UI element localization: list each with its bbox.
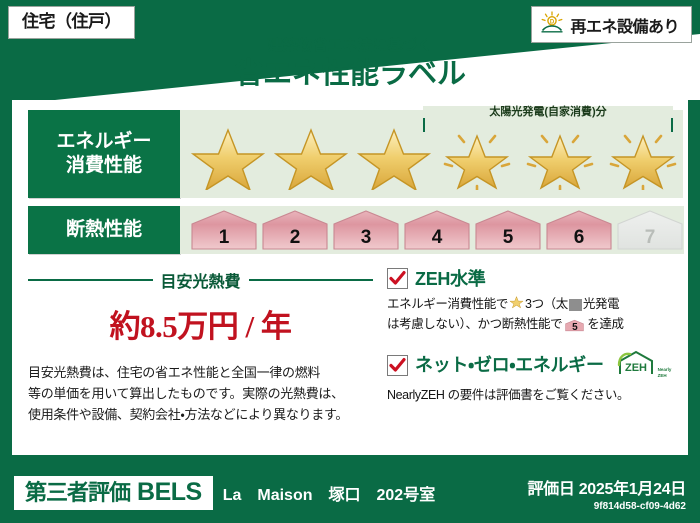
zeh-standard-title: ZEH水準 [415, 270, 486, 288]
zeh-standard-header: ZEH水準 [387, 268, 672, 289]
insulation-level-3: 3 [332, 209, 400, 251]
bels-badge-ja: 第三者評価 [25, 482, 130, 504]
insulation-level-scale: 1 2 3 [180, 209, 684, 251]
zeh-desc-line-2: は考慮しない）、かつ断熱性能で 5 を達成 [387, 315, 672, 334]
insulation-level-2: 2 [261, 209, 329, 251]
zeh-desc-line2-b: を達成 [587, 315, 623, 334]
net-zero-energy-block: ネット・ゼロ・エネルギー ZEH Nearly [387, 350, 672, 405]
star-4-solar [437, 118, 517, 190]
utility-cost-block: 目安光熱費 約8.5万円 / 年 目安光熱費は、住宅の省エネ性能と全国一律の燃料… [28, 266, 373, 446]
net-zero-note: NearlyZEH の要件は評価書をご覧ください。 [387, 386, 672, 405]
net-zero-title: ネット・ゼロ・エネルギー [415, 356, 604, 374]
cost-rule-left [28, 279, 153, 281]
zeh-standard-description: エネルギー消費性能で 3つ（太 光発電 は考慮しない）、かつ断熱性能 [387, 294, 672, 335]
energy-performance-row: エネルギー 消費性能 太陽光発電(自家消費)分 [28, 110, 672, 198]
footer-bar: 第三者評価 BELS La Maison 塚口 202号室 評価日 2025年1… [0, 463, 700, 523]
building-name: La Maison 塚口 202号室 [223, 481, 436, 505]
footer-meta: 評価日 2025年1月24日 9f814d58-cf09-4d62 [527, 475, 686, 512]
star-1 [188, 118, 268, 190]
zeh-desc-line1-b: 3つ（太 [525, 295, 568, 314]
zeh-desc-line1-c: 光発電 [583, 295, 619, 314]
insulation-level-2-number: 2 [261, 228, 329, 247]
cost-note-line-3: 使用条件や設備、契約会社・方法などにより異なります。 [28, 404, 373, 425]
insulation-label: 断熱性能 [66, 218, 142, 242]
insulation-performance-row: 断熱性能 [28, 206, 672, 254]
zeh-desc-line-1: エネルギー消費性能で 3つ（太 光発電 [387, 294, 672, 315]
insulation-level-4-number: 4 [403, 228, 471, 247]
utility-cost-note: 目安光熱費は、住宅の省エネ性能と全国一律の燃料 等の単価を用いて算出したものです… [28, 362, 373, 425]
utility-cost-heading: 目安光熱費 [28, 268, 373, 292]
insulation-level-5-number: 5 [474, 228, 542, 247]
utility-cost-value: 約8.5万円 / 年 [28, 301, 373, 346]
title-block: 建築物省エネ法に基づく 省エネ性能ラベル [0, 38, 700, 91]
zeh-logo-sub-line2: ZEH [658, 373, 667, 378]
badge-dwelling-type: 住宅（住戸） [8, 6, 135, 39]
insulation-level-3-number: 3 [332, 228, 400, 247]
net-zero-description: NearlyZEH の要件は評価書をご覧ください。 [387, 386, 672, 405]
title-subtitle: 建築物省エネ法に基づく [0, 38, 700, 55]
solar-bracket-label: 太陽光発電(自家消費)分 [423, 106, 673, 118]
insulation-level-6-number: 6 [545, 228, 613, 247]
net-zero-header: ネット・ゼロ・エネルギー ZEH Nearly [387, 350, 672, 381]
insulation-scale-panel: 1 2 3 [180, 206, 684, 254]
insulation-performance-label-box: 断熱性能 [28, 206, 180, 254]
inline-star-icon [509, 294, 524, 315]
insulation-level-6: 6 [545, 209, 613, 251]
star-3 [354, 118, 434, 190]
star-5-solar [520, 118, 600, 190]
redacted-character [569, 299, 582, 311]
zeh-house-icon: ZEH [616, 350, 656, 381]
insulation-level-1-number: 1 [190, 228, 258, 247]
evaluation-id: 9f814d58-cf09-4d62 [527, 501, 686, 512]
star-2 [271, 118, 351, 190]
cost-rule-right [249, 279, 374, 281]
utility-cost-heading-label: 目安光熱費 [161, 268, 241, 292]
svg-text:ZEH: ZEH [625, 362, 647, 374]
label-card: エネルギー 消費性能 太陽光発電(自家消費)分 [12, 100, 688, 455]
check-icon [388, 269, 407, 288]
energy-performance-label-box: エネルギー 消費性能 [28, 110, 180, 198]
badge-renewable-label: 再エネ設備あり [570, 13, 679, 37]
zeh-standard-block: ZEH水準 エネルギー消費性能で 3つ（太 光発電 [387, 268, 672, 335]
net-zero-checkbox[interactable] [387, 355, 408, 376]
energy-label-line1: エネルギー [56, 131, 151, 152]
insulation-level-7-number: 7 [616, 228, 684, 247]
inline-insulation-badge: 5 [565, 318, 584, 333]
zeh-desc-line2-a: は考慮しない）、かつ断熱性能で [387, 315, 562, 334]
cost-note-line-1: 目安光熱費は、住宅の省エネ性能と全国一律の燃料 [28, 362, 373, 383]
insulation-level-1: 1 [190, 209, 258, 251]
page-title: 省エネ性能ラベル [0, 57, 700, 92]
energy-label-line2: 消費性能 [66, 155, 142, 176]
zeh-checkbox[interactable] [387, 268, 408, 289]
star-6-solar [603, 118, 683, 190]
lower-section: 目安光熱費 約8.5万円 / 年 目安光熱費は、住宅の省エネ性能と全国一律の燃料… [28, 266, 672, 446]
svg-text:D: D [550, 19, 555, 25]
bels-badge-en: BELS [137, 480, 202, 505]
insulation-level-7: 7 [616, 209, 684, 251]
zeh-desc-line1-a: エネルギー消費性能で [387, 295, 508, 314]
star-rating [180, 118, 683, 190]
badge-dwelling-label: 住宅（住戸） [22, 12, 121, 31]
inline-insulation-badge-number: 5 [565, 323, 584, 333]
energy-stars-panel: 太陽光発電(自家消費)分 [180, 110, 683, 198]
zeh-logo-subtext: Nearly ZEH [658, 367, 672, 380]
bels-badge: 第三者評価 BELS [14, 476, 213, 510]
insulation-level-5: 5 [474, 209, 542, 251]
solar-sun-icon: D [540, 11, 564, 38]
evaluation-date: 評価日 2025年1月24日 [527, 475, 686, 499]
criteria-block: ZEH水準 エネルギー消費性能で 3つ（太 光発電 [373, 266, 672, 446]
insulation-level-4: 4 [403, 209, 471, 251]
check-icon [388, 356, 407, 375]
zeh-logo: ZEH Nearly ZEH [616, 350, 672, 381]
energy-performance-label: 住宅（住戸） D 再エネ設備あり 建築物省エネ法に基づく 省エネ性能ラベル [0, 0, 700, 523]
cost-note-line-2: 等の単価を用いて算出したものです。実際の光熱費は、 [28, 383, 373, 404]
